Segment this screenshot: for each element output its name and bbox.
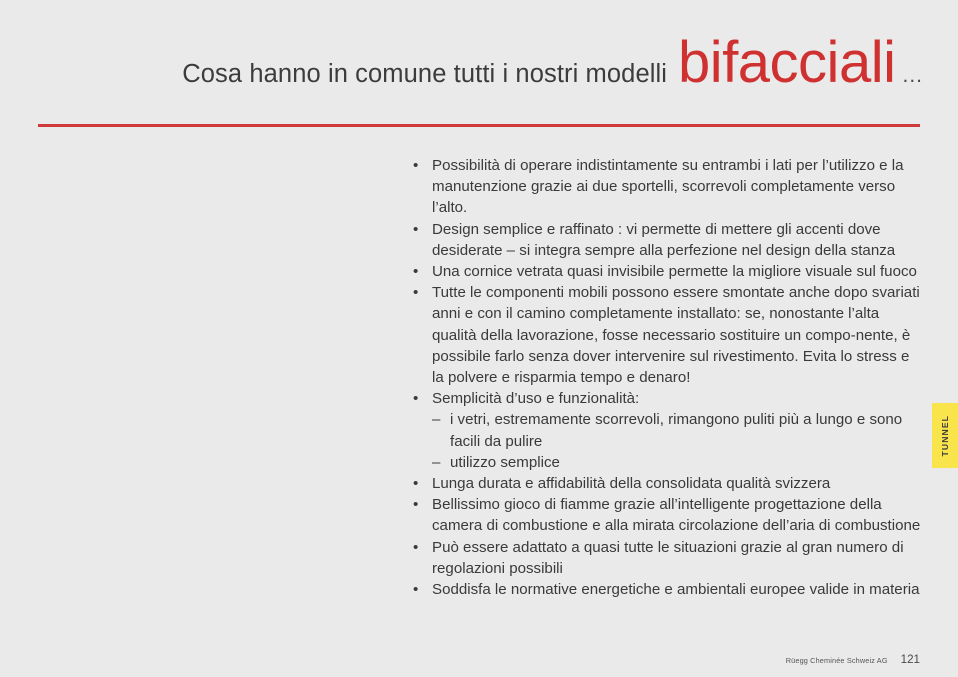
feature-bullet-text: Tutte le componenti mobili possono esser… (432, 284, 920, 386)
feature-sub-text: i vetri, estremamente scorrevoli, rimang… (450, 411, 902, 449)
bullet-marker-icon: • (413, 219, 418, 240)
feature-bullet-item: •Soddisfa le normative energetiche e amb… (410, 579, 925, 600)
bullet-marker-icon: • (413, 155, 418, 176)
feature-bullet-text: Bellissimo gioco di fiamme grazie all’in… (432, 496, 920, 534)
sub-bullet-dash-icon: – (432, 452, 440, 473)
feature-bullet-text: Una cornice vetrata quasi invisibile per… (432, 263, 917, 280)
feature-sub-item: –utilizzo semplice (432, 452, 925, 473)
bullet-marker-icon: • (413, 579, 418, 600)
section-tab-label: TUNNEL (940, 415, 950, 456)
feature-bullet-item: •Semplicità d’uso e funzionalità:–i vetr… (410, 388, 925, 473)
feature-bullet-item: •Può essere adattato a quasi tutte le si… (410, 537, 925, 579)
feature-bullet-text: Può essere adattato a quasi tutte le sit… (432, 539, 904, 577)
feature-bullet-item: •Una cornice vetrata quasi invisibile pe… (410, 261, 925, 282)
feature-list-column: •Possibilità di operare indistintamente … (410, 155, 925, 600)
feature-sub-item: –i vetri, estremamente scorrevoli, riman… (432, 409, 925, 451)
feature-sub-text: utilizzo semplice (450, 454, 560, 471)
feature-bullet-item: •Tutte le componenti mobili possono esse… (410, 282, 925, 388)
feature-bullet-text: Possibilità di operare indistintamente s… (432, 157, 904, 216)
section-tab-tunnel[interactable]: TUNNEL (932, 403, 958, 468)
feature-bullet-item: •Bellissimo gioco di fiamme grazie all’i… (410, 494, 925, 536)
feature-bullet-text: Soddisfa le normative energetiche e ambi… (432, 581, 919, 598)
feature-sub-list: –i vetri, estremamente scorrevoli, riman… (432, 409, 925, 473)
feature-bullet-text: Lunga durata e affidabilità della consol… (432, 475, 830, 492)
bullet-marker-icon: • (413, 473, 418, 494)
bullet-marker-icon: • (413, 261, 418, 282)
feature-bullet-item: •Possibilità di operare indistintamente … (410, 155, 925, 219)
bullet-marker-icon: • (413, 388, 418, 409)
feature-bullet-text: Semplicità d’uso e funzionalità: (432, 390, 639, 407)
header-divider-rule (38, 124, 920, 127)
sub-bullet-dash-icon: – (432, 409, 440, 430)
feature-bullet-item: •Design semplice e raffinato : vi permet… (410, 219, 925, 261)
feature-bullet-text: Design semplice e raffinato : vi permett… (432, 221, 895, 259)
bullet-marker-icon: • (413, 282, 418, 303)
document-page: Cosa hanno in comune tutti i nostri mode… (0, 0, 958, 677)
header-ellipsis: ... (902, 65, 923, 86)
feature-bullet-item: •Lunga durata e affidabilità della conso… (410, 473, 925, 494)
footer-page-number: 121 (901, 653, 920, 666)
page-header: Cosa hanno in comune tutti i nostri mode… (113, 34, 923, 108)
feature-bullet-list: •Possibilità di operare indistintamente … (410, 155, 925, 600)
footer-company-credit: Rüegg Cheminée Schweiz AG (786, 656, 888, 665)
header-highlight-word: bifacciali (678, 34, 895, 92)
bullet-marker-icon: • (413, 494, 418, 515)
page-footer: Rüegg Cheminée Schweiz AG 121 (786, 653, 920, 666)
bullet-marker-icon: • (413, 537, 418, 558)
header-lead-text: Cosa hanno in comune tutti i nostri mode… (182, 62, 667, 88)
